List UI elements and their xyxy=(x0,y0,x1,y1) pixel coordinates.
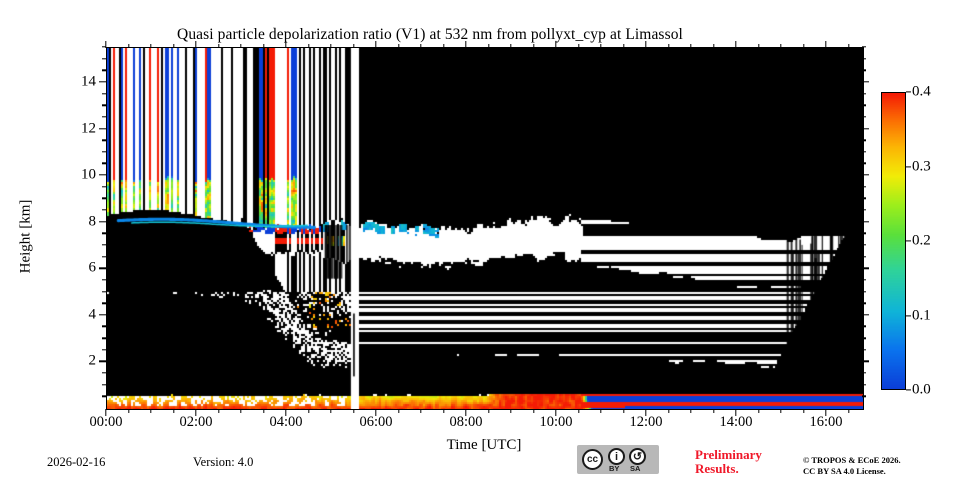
y-tick-minor-right xyxy=(862,139,866,140)
y-tick-minor-right xyxy=(862,93,866,94)
y-tick-minor xyxy=(102,93,106,94)
y-tick-mark-right xyxy=(862,81,869,82)
y-tick-minor xyxy=(102,279,106,280)
y-tick-minor xyxy=(102,58,106,59)
y-tick-mark xyxy=(99,81,106,82)
y-tick-minor-right xyxy=(862,326,866,327)
y-tick-minor-right xyxy=(862,105,866,106)
y-tick-mark xyxy=(99,361,106,362)
cc-license-badge-icon[interactable]: cc i ↺ BY SA xyxy=(577,445,659,474)
y-tick-minor xyxy=(102,163,106,164)
colorbar-tick xyxy=(906,166,911,167)
x-tick-minor-top xyxy=(780,44,781,48)
copyright-line-2: CC BY SA 4.0 License. xyxy=(803,466,901,477)
x-tick-mark xyxy=(375,409,376,416)
footer-version: Version: 4.0 xyxy=(193,455,253,470)
y-tick-mark-right xyxy=(862,128,869,129)
y-axis-label: Height [km] xyxy=(18,177,35,297)
cc-sa-icon: ↺ xyxy=(629,448,646,465)
y-tick-minor-right xyxy=(862,198,866,199)
x-tick-minor-top xyxy=(218,44,219,48)
x-tick-mark xyxy=(825,409,826,416)
y-tick-label: 10 xyxy=(66,167,96,184)
y-tick-minor-right xyxy=(862,256,866,257)
x-tick-minor-top xyxy=(533,44,534,48)
x-tick-label: 12:00 xyxy=(629,414,662,431)
copyright-notice: © TROPOS & ECoE 2026. CC BY SA 4.0 Licen… xyxy=(803,455,901,477)
y-tick-mark-right xyxy=(862,268,869,269)
y-tick-minor xyxy=(102,198,106,199)
y-tick-minor-right xyxy=(862,396,866,397)
x-tick-minor-top xyxy=(803,44,804,48)
x-tick-mark-top xyxy=(285,41,286,48)
y-tick-minor-right xyxy=(862,372,866,373)
preliminary-results-notice: Preliminary Results. xyxy=(695,448,790,476)
colorbar[interactable] xyxy=(881,92,906,390)
y-tick-minor xyxy=(102,396,106,397)
x-tick-minor-top xyxy=(758,44,759,48)
x-tick-minor xyxy=(263,409,264,413)
x-tick-minor xyxy=(398,409,399,413)
y-tick-minor-right xyxy=(862,233,866,234)
preliminary-line-1: Preliminary xyxy=(695,448,790,462)
x-tick-mark-top xyxy=(735,41,736,48)
x-tick-mark-top xyxy=(105,41,106,48)
x-tick-minor xyxy=(600,409,601,413)
y-tick-minor xyxy=(102,326,106,327)
x-tick-minor xyxy=(173,409,174,413)
y-tick-minor-right xyxy=(862,116,866,117)
x-tick-minor-top xyxy=(330,44,331,48)
plot-area[interactable] xyxy=(106,47,864,410)
y-tick-minor xyxy=(102,372,106,373)
y-tick-mark xyxy=(99,314,106,315)
x-tick-minor xyxy=(150,409,151,413)
copyright-line-1: © TROPOS & ECoE 2026. xyxy=(803,455,901,466)
lidar-heatmap-canvas[interactable] xyxy=(107,48,863,409)
cc-logo-icon: cc xyxy=(582,449,603,470)
colorbar-tick-label: 0.4 xyxy=(912,84,931,101)
x-tick-label: 08:00 xyxy=(449,414,482,431)
y-tick-minor xyxy=(102,256,106,257)
y-tick-minor-right xyxy=(862,58,866,59)
y-tick-mark-right xyxy=(862,361,869,362)
colorbar-tick xyxy=(906,315,911,316)
x-tick-mark xyxy=(195,409,196,416)
x-tick-minor xyxy=(308,409,309,413)
x-tick-minor-top xyxy=(150,44,151,48)
x-tick-minor-top xyxy=(353,44,354,48)
x-tick-minor-top xyxy=(600,44,601,48)
cc-sa-label: SA xyxy=(630,464,640,473)
x-tick-mark xyxy=(465,409,466,416)
x-tick-minor xyxy=(240,409,241,413)
x-tick-minor-top xyxy=(240,44,241,48)
x-tick-minor xyxy=(623,409,624,413)
preliminary-line-2: Results. xyxy=(695,462,790,476)
x-tick-mark-top xyxy=(375,41,376,48)
y-tick-minor xyxy=(102,337,106,338)
x-tick-mark-top xyxy=(195,41,196,48)
y-tick-minor xyxy=(102,233,106,234)
x-tick-minor-top xyxy=(263,44,264,48)
x-tick-mark xyxy=(285,409,286,416)
x-tick-label: 14:00 xyxy=(719,414,752,431)
x-tick-label: 16:00 xyxy=(809,414,842,431)
y-tick-minor-right xyxy=(862,46,866,47)
y-tick-label: 6 xyxy=(66,260,96,277)
y-tick-mark xyxy=(99,174,106,175)
colorbar-tick xyxy=(906,91,911,92)
x-tick-minor xyxy=(578,409,579,413)
x-tick-minor xyxy=(330,409,331,413)
y-tick-minor-right xyxy=(862,70,866,71)
x-tick-minor-top xyxy=(668,44,669,48)
y-tick-minor xyxy=(102,349,106,350)
x-tick-minor-top xyxy=(443,44,444,48)
x-tick-minor-top xyxy=(848,44,849,48)
y-tick-minor xyxy=(102,186,106,187)
colorbar-tick-label: 0.3 xyxy=(912,158,931,175)
x-tick-mark-top xyxy=(825,41,826,48)
x-tick-minor xyxy=(690,409,691,413)
x-tick-minor xyxy=(443,409,444,413)
x-tick-minor-top xyxy=(713,44,714,48)
x-tick-minor xyxy=(780,409,781,413)
y-tick-minor-right xyxy=(862,337,866,338)
x-tick-label: 04:00 xyxy=(269,414,302,431)
figure-root: Quasi particle depolarization ratio (V1)… xyxy=(0,0,960,480)
y-tick-label: 2 xyxy=(66,353,96,370)
x-tick-mark xyxy=(735,409,736,416)
y-tick-mark xyxy=(99,221,106,222)
x-tick-minor xyxy=(420,409,421,413)
y-tick-minor xyxy=(102,70,106,71)
x-tick-minor xyxy=(713,409,714,413)
colorbar-tick xyxy=(906,240,911,241)
x-tick-minor-top xyxy=(690,44,691,48)
x-tick-label: 06:00 xyxy=(359,414,392,431)
x-tick-minor xyxy=(510,409,511,413)
cc-by-label: BY xyxy=(609,464,619,473)
y-tick-minor xyxy=(102,151,106,152)
x-tick-label: 02:00 xyxy=(179,414,212,431)
y-tick-minor xyxy=(102,139,106,140)
colorbar-tick-label: 0.1 xyxy=(912,307,931,324)
x-tick-mark-top xyxy=(465,41,466,48)
y-tick-minor-right xyxy=(862,384,866,385)
x-tick-minor-top xyxy=(510,44,511,48)
x-tick-mark-top xyxy=(645,41,646,48)
y-tick-minor xyxy=(102,291,106,292)
colorbar-gradient xyxy=(882,93,905,389)
x-tick-mark xyxy=(105,409,106,416)
x-tick-minor xyxy=(668,409,669,413)
y-tick-label: 14 xyxy=(66,73,96,90)
x-tick-minor xyxy=(353,409,354,413)
x-tick-label: 10:00 xyxy=(539,414,572,431)
y-tick-minor xyxy=(102,244,106,245)
x-tick-minor-top xyxy=(420,44,421,48)
y-tick-minor-right xyxy=(862,349,866,350)
y-tick-minor xyxy=(102,384,106,385)
x-tick-minor-top xyxy=(398,44,399,48)
y-tick-minor xyxy=(102,116,106,117)
x-tick-minor-top xyxy=(578,44,579,48)
x-tick-label: 00:00 xyxy=(89,414,122,431)
x-tick-mark xyxy=(645,409,646,416)
y-tick-minor xyxy=(102,105,106,106)
y-tick-label: 4 xyxy=(66,306,96,323)
y-tick-minor-right xyxy=(862,209,866,210)
colorbar-tick xyxy=(906,389,911,390)
x-tick-minor xyxy=(128,409,129,413)
footer-date: 2026-02-16 xyxy=(47,455,105,470)
y-tick-minor-right xyxy=(862,291,866,292)
y-tick-minor-right xyxy=(862,244,866,245)
y-tick-label: 8 xyxy=(66,213,96,230)
x-tick-minor xyxy=(758,409,759,413)
x-tick-minor xyxy=(218,409,219,413)
y-tick-mark-right xyxy=(862,174,869,175)
x-tick-mark-top xyxy=(555,41,556,48)
chart-title: Quasi particle depolarization ratio (V1)… xyxy=(0,26,860,44)
y-tick-minor-right xyxy=(862,163,866,164)
x-tick-mark xyxy=(555,409,556,416)
colorbar-tick-label: 0.2 xyxy=(912,233,931,250)
y-tick-minor-right xyxy=(862,151,866,152)
x-tick-minor-top xyxy=(308,44,309,48)
y-tick-minor-right xyxy=(862,279,866,280)
y-tick-minor xyxy=(102,209,106,210)
x-tick-minor xyxy=(848,409,849,413)
x-tick-minor-top xyxy=(173,44,174,48)
y-tick-mark-right xyxy=(862,221,869,222)
x-tick-minor-top xyxy=(128,44,129,48)
x-tick-minor-top xyxy=(488,44,489,48)
y-tick-mark xyxy=(99,128,106,129)
colorbar-tick-label: 0.0 xyxy=(912,382,931,399)
y-tick-label: 12 xyxy=(66,120,96,137)
x-tick-minor xyxy=(488,409,489,413)
y-tick-minor-right xyxy=(862,302,866,303)
y-tick-minor-right xyxy=(862,186,866,187)
y-tick-mark-right xyxy=(862,314,869,315)
x-tick-minor-top xyxy=(623,44,624,48)
cc-by-icon: i xyxy=(608,448,625,465)
y-tick-mark xyxy=(99,268,106,269)
x-tick-minor xyxy=(533,409,534,413)
y-tick-minor xyxy=(102,302,106,303)
x-tick-minor xyxy=(803,409,804,413)
